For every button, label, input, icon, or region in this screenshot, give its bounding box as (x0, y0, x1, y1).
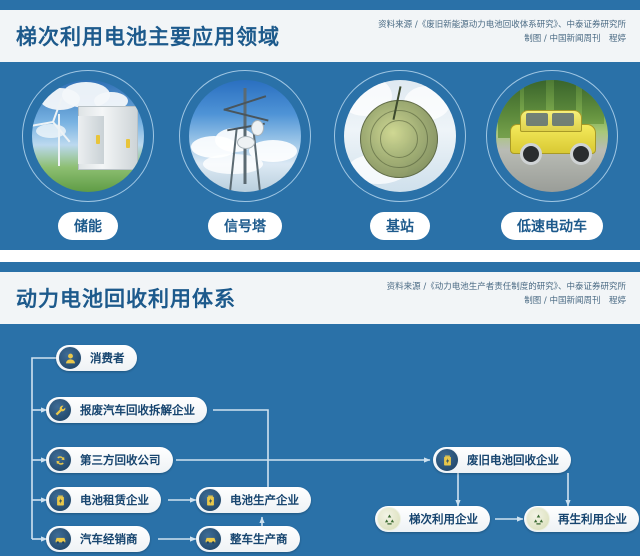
flow-node-label: 再生利用企业 (558, 511, 627, 527)
source-line-2: 制图 / 中国新闻周刊 程婷 (378, 32, 626, 46)
flow-node-label: 梯次利用企业 (409, 511, 478, 527)
wrench-icon (48, 398, 72, 422)
source-line-1: 资料来源 /《动力电池生产者责任制度的研究》、中泰证券研究所 (387, 280, 626, 294)
recycle-arrows-icon (48, 448, 72, 472)
photo-ring (179, 70, 311, 202)
flow-node-label: 报废汽车回收拆解企业 (80, 402, 195, 418)
recycle-leaf-icon (377, 507, 401, 531)
satellite-dish-base-station-photo (344, 80, 456, 192)
recycling-system-panel: 动力电池回收利用体系 资料来源 /《动力电池生产者责任制度的研究》、中泰证券研究… (0, 262, 640, 556)
battery-icon (435, 448, 459, 472)
photo-ring (486, 70, 618, 202)
flow-node-battery-maker[interactable]: 电池生产企业 (196, 487, 311, 513)
source-line-2: 制图 / 中国新闻周刊 程婷 (387, 294, 626, 308)
application-label-low-speed-ev: 低速电动车 (501, 212, 603, 240)
cellular-signal-tower-photo (189, 80, 301, 192)
flow-node-label: 消费者 (90, 350, 125, 366)
battery-icon (48, 488, 72, 512)
applications-source: 资料来源 /《废旧新能源动力电池回收体系研究》、中泰证券研究所 制图 / 中国新… (378, 18, 626, 46)
section-title: 动力电池回收利用体系 (16, 283, 236, 313)
flow-node-consumer[interactable]: 消费者 (56, 345, 137, 371)
flow-node-third-party[interactable]: 第三方回收公司 (46, 447, 173, 473)
flow-node-vehicle-maker[interactable]: 整车生产商 (196, 526, 300, 552)
recycling-header: 动力电池回收利用体系 资料来源 /《动力电池生产者责任制度的研究》、中泰证券研究… (0, 272, 640, 324)
person-icon (58, 346, 82, 370)
wind-turbine-storage-station-photo (32, 80, 144, 192)
page-title: 梯次利用电池主要应用领域 (16, 21, 280, 51)
infographic-root: 梯次利用电池主要应用领域 资料来源 /《废旧新能源动力电池回收体系研究》、中泰证… (0, 0, 640, 556)
applications-header: 梯次利用电池主要应用领域 资料来源 /《废旧新能源动力电池回收体系研究》、中泰证… (0, 10, 640, 62)
flow-node-material-recycle[interactable]: 再生利用企业 (524, 506, 639, 532)
photo-ring (334, 70, 466, 202)
application-item-base-station: 基站 (325, 70, 475, 240)
flow-node-label: 整车生产商 (230, 531, 288, 547)
application-label-storage: 储能 (58, 212, 118, 240)
flow-node-scrap-dismantler[interactable]: 报废汽车回收拆解企业 (46, 397, 207, 423)
recycle-leaf-icon (526, 507, 550, 531)
application-item-low-speed-ev: 低速电动车 (477, 70, 627, 240)
application-circle-row: 储能 (0, 70, 640, 250)
yellow-low-speed-electric-car-photo (496, 80, 608, 192)
car-icon (48, 527, 72, 551)
car-icon (198, 527, 222, 551)
flow-node-cascade-use[interactable]: 梯次利用企业 (375, 506, 490, 532)
flow-node-label: 电池生产企业 (230, 492, 299, 508)
application-item-storage: 储能 (13, 70, 163, 240)
flow-node-battery-leasing[interactable]: 电池租赁企业 (46, 487, 161, 513)
battery-icon (198, 488, 222, 512)
applications-panel: 梯次利用电池主要应用领域 资料来源 /《废旧新能源动力电池回收体系研究》、中泰证… (0, 0, 640, 250)
photo-ring (22, 70, 154, 202)
application-item-signal-tower: 信号塔 (170, 70, 320, 240)
flow-node-waste-collector[interactable]: 废旧电池回收企业 (433, 447, 571, 473)
recycling-flow-diagram: 消费者 报废汽车回收拆解企业 第三方回收公司 (0, 334, 640, 556)
recycling-source: 资料来源 /《动力电池生产者责任制度的研究》、中泰证券研究所 制图 / 中国新闻… (387, 280, 626, 308)
flow-node-label: 废旧电池回收企业 (467, 452, 559, 468)
application-label-signal-tower: 信号塔 (208, 212, 282, 240)
flow-node-label: 电池租赁企业 (80, 492, 149, 508)
application-label-base-station: 基站 (370, 212, 430, 240)
flow-node-label: 第三方回收公司 (80, 452, 161, 468)
source-line-1: 资料来源 /《废旧新能源动力电池回收体系研究》、中泰证券研究所 (378, 18, 626, 32)
flow-node-car-dealer[interactable]: 汽车经销商 (46, 526, 150, 552)
flow-node-label: 汽车经销商 (80, 531, 138, 547)
